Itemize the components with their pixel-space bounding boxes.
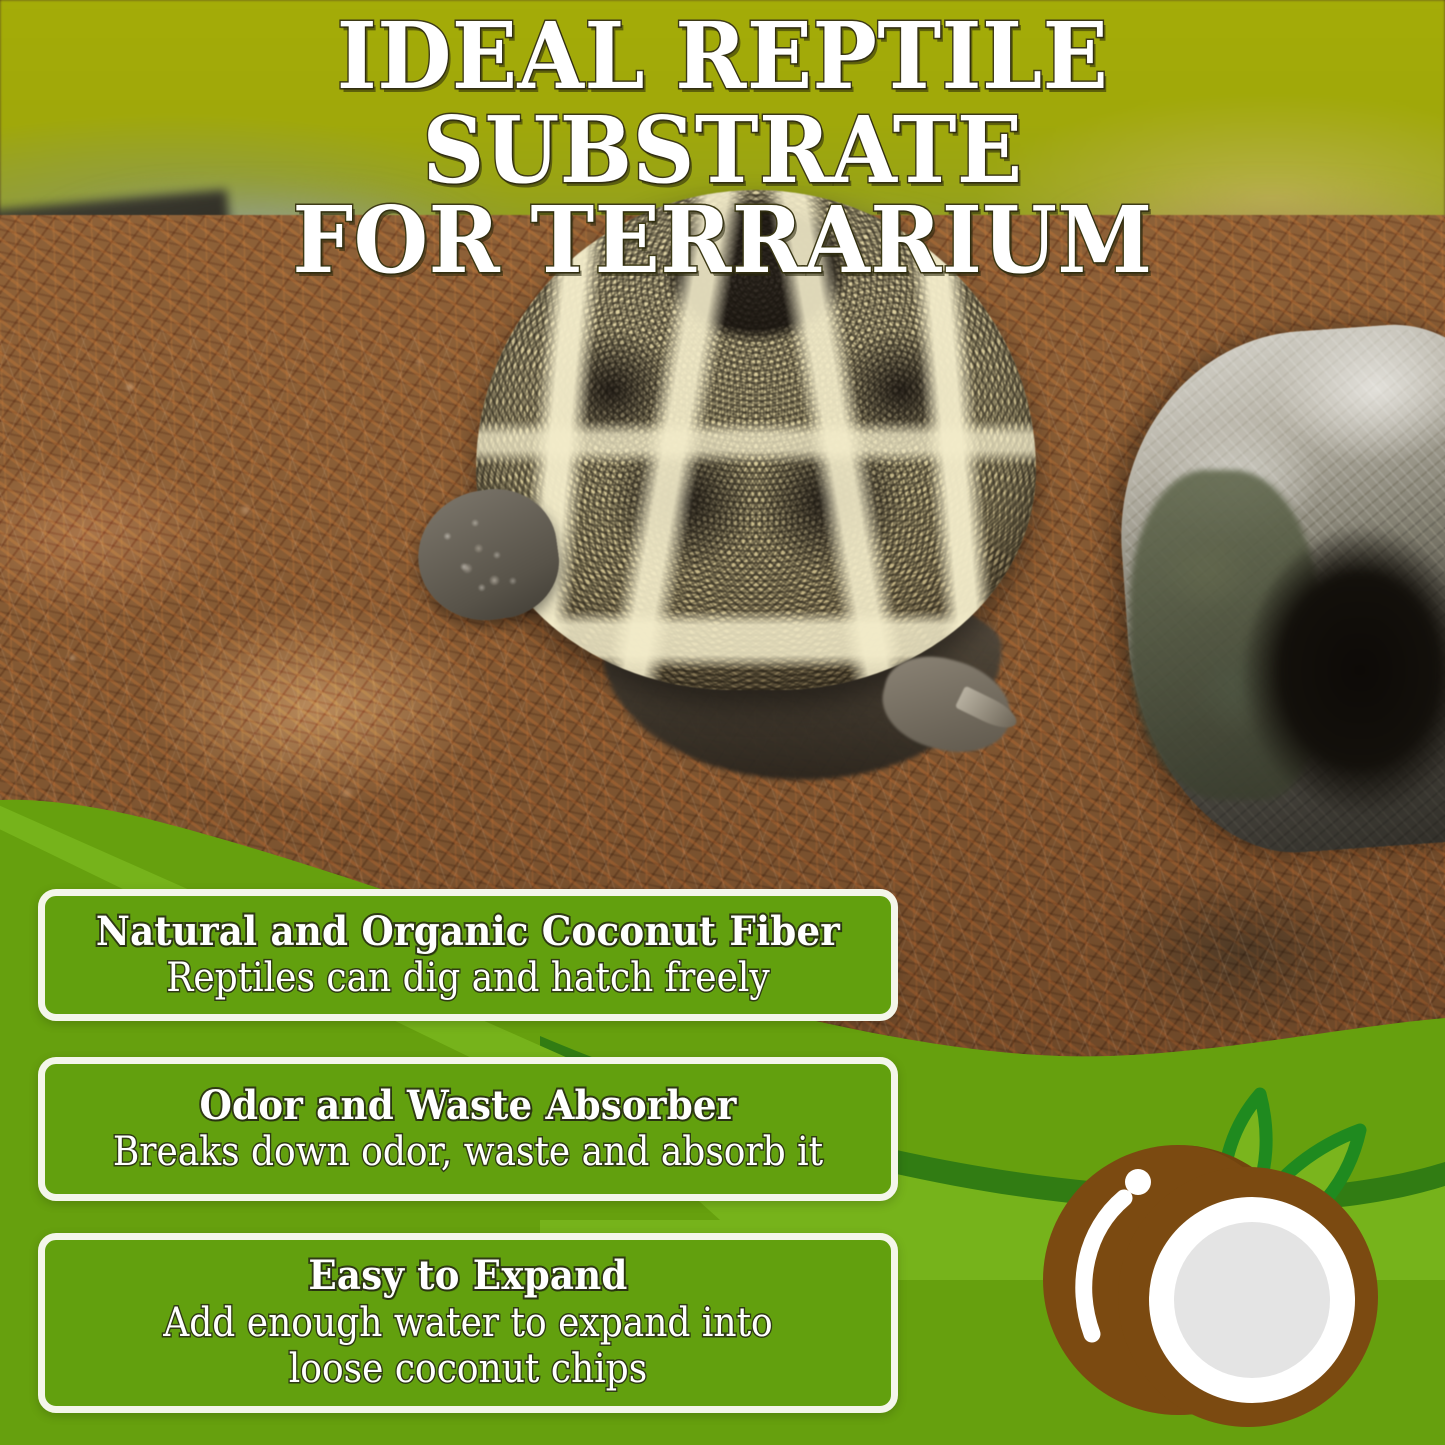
feature-box-odor-absorber[interactable]: Odor and Waste Absorber Breaks down odor… — [38, 1057, 898, 1201]
feature-box-easy-expand[interactable]: Easy to Expand Add enough water to expan… — [38, 1233, 898, 1413]
feature-title: Natural and Organic Coconut Fiber — [75, 910, 862, 955]
coconut-icon — [1020, 1072, 1420, 1432]
coconut-highlight-dot — [1125, 1169, 1151, 1195]
title-line-1: IDEAL REPTILE SUBSTRATE — [51, 10, 1395, 198]
coconut-icon-svg — [1020, 1072, 1420, 1432]
coconut-inner — [1174, 1222, 1330, 1378]
page-title: IDEAL REPTILE SUBSTRATE FOR TERRARIUM — [0, 10, 1445, 287]
feature-subtitle: Reptiles can dig and hatch freely — [87, 956, 848, 1000]
feature-subtitle-line-2: loose coconut chips — [87, 1347, 848, 1392]
feature-subtitle: Breaks down odor, waste and absorb it — [87, 1130, 848, 1174]
product-infographic: IDEAL REPTILE SUBSTRATE FOR TERRARIUM Na… — [0, 0, 1445, 1445]
feature-title: Odor and Waste Absorber — [75, 1084, 862, 1129]
title-line-2: FOR TERRARIUM — [51, 194, 1395, 288]
feature-box-natural-organic[interactable]: Natural and Organic Coconut Fiber Reptil… — [38, 889, 898, 1021]
feature-title: Easy to Expand — [75, 1254, 862, 1299]
feature-subtitle-line-1: Add enough water to expand into — [87, 1301, 848, 1346]
